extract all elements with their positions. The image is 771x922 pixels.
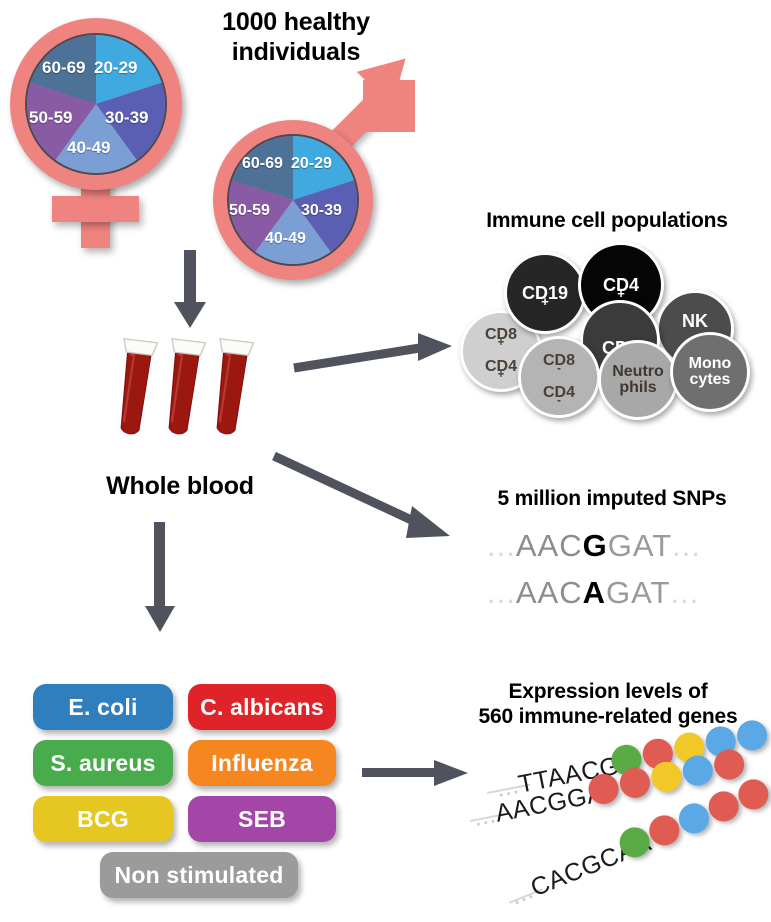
arrow-blood-to-snps [272, 450, 457, 550]
expression-title-line1: Expression levels of [452, 680, 764, 705]
snp-variant-allele: A [583, 575, 606, 611]
male-symbol-arrowhead-block [363, 80, 415, 132]
immune-cell-populations-title: Immune cell populations [452, 209, 762, 234]
figure-canvas: 1000 healthy individuals 20-29 30-39 40-… [0, 0, 771, 922]
stimulus-seb[interactable]: SEB [188, 796, 336, 842]
snp-left: AAC [516, 575, 583, 611]
arrow-blood-to-immune-cells [292, 330, 457, 378]
immune-cell-cluster: CD8+ CD4+ CD19+ CD4+ NK CD8+ CD8- CD4- N… [452, 240, 752, 420]
cell-label-line2: cytes [689, 372, 732, 388]
cell-neutrophils: Neutro phils [598, 340, 678, 420]
stimulus-bcg[interactable]: BCG [33, 796, 173, 842]
snp-sequence-row-1: ... AAC G GAT ... [487, 528, 701, 564]
expression-bead [680, 753, 715, 788]
female-symbol-cross [52, 196, 139, 222]
whole-blood-label: Whole blood [80, 472, 280, 502]
stimulus-label: Non stimulated [115, 862, 284, 889]
stimulus-label: S. aureus [50, 750, 155, 777]
stimulus-non-stimulated[interactable]: Non stimulated [100, 852, 298, 898]
cell-label-line2: phils [612, 380, 664, 396]
pie-label-40-49: 40-49 [265, 230, 306, 248]
stimulus-label: E. coli [68, 694, 137, 721]
snp-prefix: ... [487, 575, 516, 611]
snp-prefix: ... [487, 528, 516, 564]
stimulus-s-aureus[interactable]: S. aureus [33, 740, 173, 786]
arrow-individuals-to-blood [170, 250, 210, 328]
whole-blood-tubes [112, 338, 272, 453]
snp-left: AAC [516, 528, 583, 564]
pie-label-60-69: 60-69 [242, 155, 283, 173]
pie-label-30-39: 30-39 [301, 202, 342, 220]
snps-title: 5 million imputed SNPs [462, 487, 762, 512]
pie-label-50-59: 50-59 [29, 108, 72, 128]
snp-variant-allele: G [583, 528, 608, 564]
arrow-blood-to-stimuli [140, 522, 180, 632]
pie-label-50-59: 50-59 [229, 202, 270, 220]
female-gender-symbol: 20-29 30-39 40-49 50-59 60-69 [10, 18, 200, 243]
expression-bead [712, 747, 747, 782]
snp-right: GAT [608, 528, 672, 564]
pie-label-20-29: 20-29 [94, 58, 137, 78]
cell-cd8n-cd4n: CD8- CD4- [518, 336, 600, 418]
snp-right: GAT [606, 575, 670, 611]
stimulus-label: Influenza [211, 750, 312, 777]
cell-label-line1: Neutro [612, 364, 664, 380]
expression-bead [649, 759, 684, 794]
stimulus-label: C. albicans [200, 694, 324, 721]
cell-cd19p: CD19+ [504, 252, 586, 334]
cell-label: NK [682, 312, 708, 330]
pie-label-60-69: 60-69 [42, 58, 85, 78]
snp-suffix: ... [672, 528, 701, 564]
expression-title: Expression levels of 560 immune-related … [452, 680, 764, 730]
pie-label-40-49: 40-49 [67, 138, 110, 158]
snp-sequence-row-2: ... AAC A GAT ... [487, 575, 699, 611]
stimulus-label: SEB [238, 806, 286, 833]
stimulus-influenza[interactable]: Influenza [188, 740, 336, 786]
arrow-stimuli-to-expression [362, 755, 472, 795]
stimulus-label: BCG [77, 806, 129, 833]
stimulus-e-coli[interactable]: E. coli [33, 684, 173, 730]
pie-label-20-29: 20-29 [291, 155, 332, 173]
expression-bead [617, 765, 652, 800]
cell-monocytes: Mono cytes [670, 332, 750, 412]
stimulus-c-albicans[interactable]: C. albicans [188, 684, 336, 730]
pie-label-30-39: 30-39 [105, 108, 148, 128]
cohort-title-line1: 1000 healthy [178, 8, 414, 38]
cell-label-line1: Mono [689, 356, 732, 372]
snp-suffix: ... [670, 575, 699, 611]
male-gender-symbol: 20-29 30-39 40-49 50-59 60-69 [213, 92, 423, 257]
